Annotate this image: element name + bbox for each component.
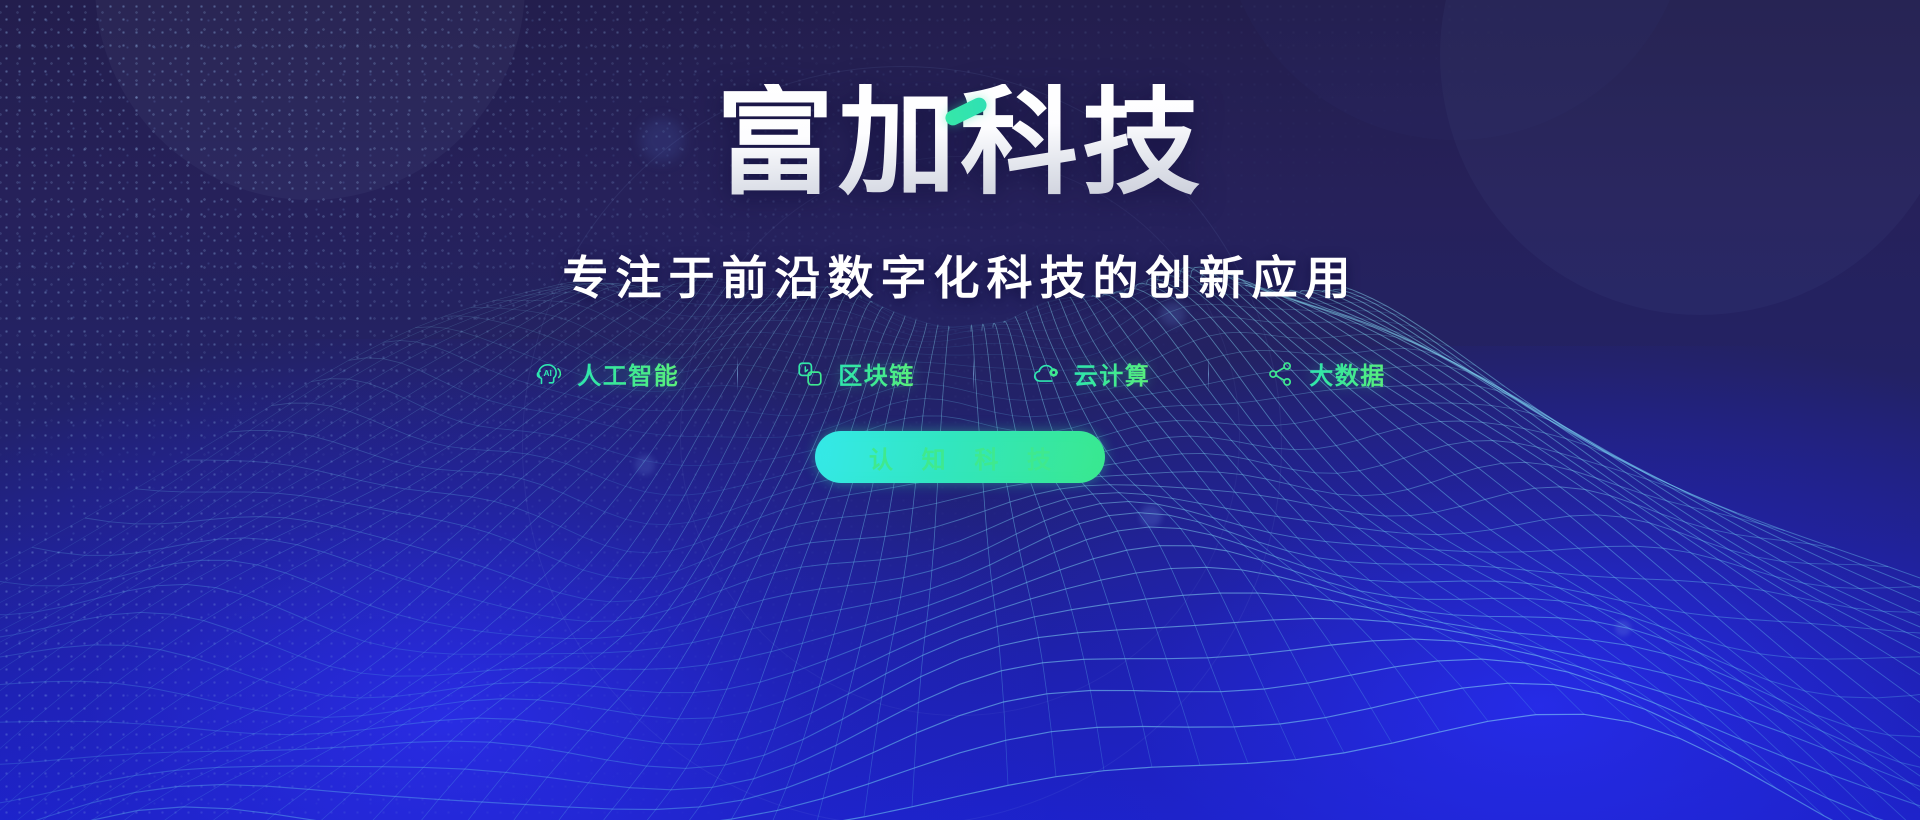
blockchain-blocks-icon (795, 359, 825, 389)
cognitive-tech-button[interactable]: 认 知 科 技 (815, 431, 1105, 483)
feature-item-blockchain[interactable]: 区块链 (737, 356, 973, 391)
feature-label: 区块链 (838, 356, 915, 391)
svg-text:AI: AI (544, 367, 552, 377)
brand-logo: 富加科技 (716, 84, 1204, 204)
cloud-gear-icon (1031, 359, 1061, 389)
cta-container: 认 知 科 技 (815, 431, 1105, 483)
share-nodes-icon (1266, 359, 1296, 389)
feature-label: 云计算 (1074, 356, 1151, 391)
feature-label: 大数据 (1309, 356, 1386, 391)
feature-item-ai[interactable]: AI 人工智能 (476, 356, 737, 391)
ai-head-icon: AI (534, 359, 564, 389)
hero-banner: 富加科技 专注于前沿数字化科技的创新应用 AI 人工智能 (0, 0, 1920, 820)
feature-list: AI 人工智能 区块链 云计算 (476, 356, 1444, 391)
hero-tagline: 专注于前沿数字化科技的创新应用 (563, 242, 1358, 308)
hero-content: 富加科技 专注于前沿数字化科技的创新应用 AI 人工智能 (0, 0, 1920, 820)
feature-item-cloud[interactable]: 云计算 (973, 356, 1209, 391)
feature-item-bigdata[interactable]: 大数据 (1208, 356, 1444, 391)
feature-label: 人工智能 (577, 356, 679, 391)
brand-logo-text: 富加科技 (716, 84, 1204, 202)
